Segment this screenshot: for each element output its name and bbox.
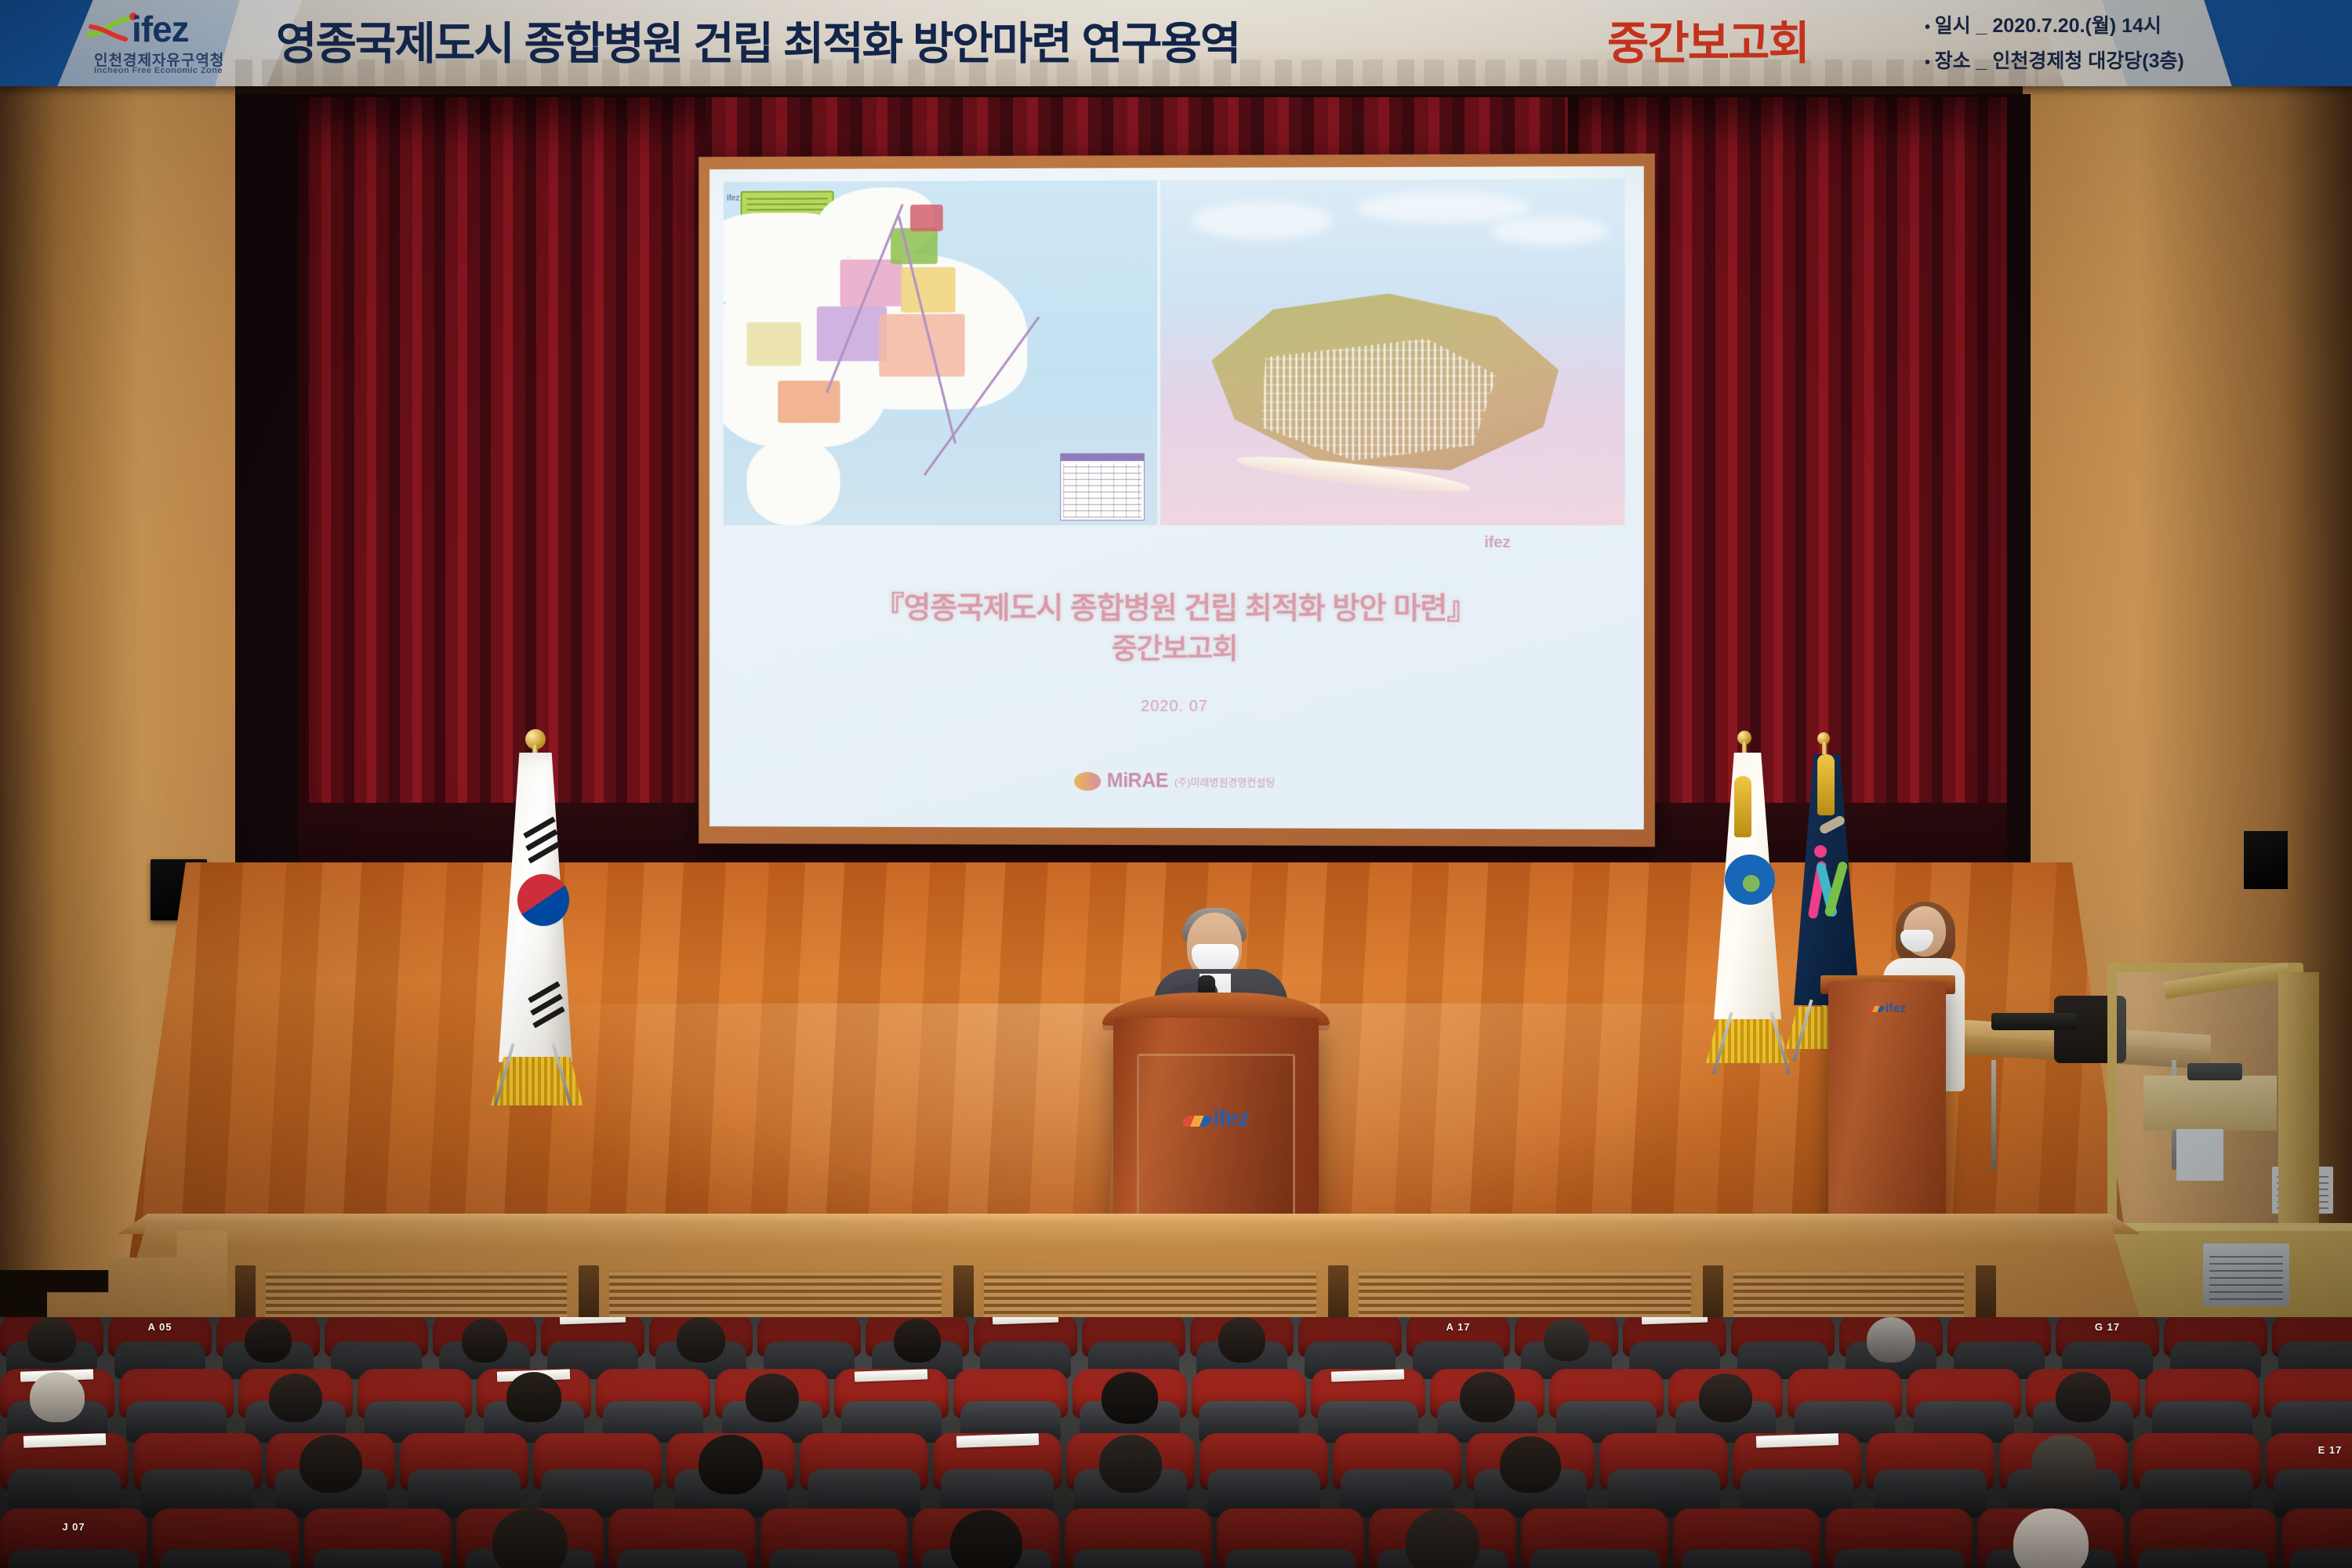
seat[interactable] (2281, 1508, 2352, 1568)
seat[interactable] (304, 1508, 452, 1568)
map-zone (891, 228, 938, 264)
map-zone (747, 322, 801, 366)
slide-title-line2: 중간보고회 (710, 626, 1644, 668)
slide-title-line1: 『영종국제도시 종합병원 건립 최적화 방안 마련』 (710, 583, 1644, 626)
map-zone (901, 267, 956, 313)
banner-meta-venue: 장소 _ 인천경제청 대강당(3층) (1925, 45, 2184, 80)
audience-seating-area: B 05 A 05 A 17 G 17 (0, 1317, 2352, 1568)
mc-lectern: ifez (1828, 982, 1946, 1240)
flag-tassel (1817, 754, 1835, 815)
seat-row: J 07 (0, 1508, 2352, 1568)
slide-corner-logo: ifez (1484, 533, 1626, 560)
seat-label: J 07 (62, 1521, 85, 1533)
slide-date: 2020. 07 (710, 697, 1644, 717)
cloud (1192, 201, 1333, 240)
vendor-subtitle: (주)미래병원경영컨설팅 (1174, 774, 1275, 789)
map-data-table (1060, 453, 1145, 521)
seat[interactable] (1217, 1508, 1364, 1568)
seat[interactable] (760, 1508, 908, 1568)
org-emblem-icon (1814, 845, 1827, 858)
seat-label: A 05 (148, 1321, 172, 1333)
audience-head (462, 1319, 507, 1363)
seat[interactable] (1673, 1508, 1820, 1568)
seat[interactable] (456, 1508, 604, 1568)
seat[interactable] (1825, 1508, 1973, 1568)
seat[interactable] (1521, 1508, 1668, 1568)
wheelchair-lift-enclosure[interactable] (2107, 963, 2303, 1245)
map-zone (817, 307, 887, 361)
seat[interactable] (2129, 1508, 2277, 1568)
banner-meta-datetime: 일시 _ 2020.7.20.(월) 14시 (1925, 9, 2184, 45)
map-zone (778, 381, 840, 423)
table-equipment (1991, 1013, 2078, 1030)
audience-head (2056, 1372, 2111, 1422)
audience-head (506, 1372, 561, 1422)
audience-head (1102, 1372, 1158, 1424)
ifez-mark-icon (1867, 1006, 1885, 1012)
stage-curtain-left (298, 97, 706, 866)
mc-lectern-logo-text: ifez (1886, 1002, 1907, 1015)
slide-image-row: ifez (724, 179, 1625, 525)
seat[interactable]: J 07 (0, 1508, 147, 1568)
mirae-mark-icon (1074, 771, 1101, 790)
slide-aerial-rendering (1160, 179, 1625, 525)
ifez-mark-icon (1181, 1116, 1214, 1127)
banner-title: 영종국제도시 종합병원 건립 최적화 방안마련 연구용역 (276, 5, 1240, 83)
map-ifez-badge: ifez (727, 194, 740, 203)
audience-head (677, 1317, 725, 1363)
flag-tassel (1734, 776, 1751, 837)
seat[interactable] (152, 1508, 299, 1568)
audience-head (245, 1319, 292, 1363)
wall-speaker-icon (2244, 831, 2288, 889)
audience-head (1544, 1319, 1589, 1361)
audience-head (699, 1435, 763, 1494)
lift-warning-sign (2203, 1243, 2289, 1306)
audience-head (1500, 1436, 1561, 1493)
vendor-name: MiRAE (1107, 770, 1168, 793)
mc-lectern-ifez-logo: ifez (1828, 1002, 1946, 1016)
seat-label: E 17 (2318, 1444, 2343, 1456)
lectern-panel (1137, 1054, 1295, 1234)
audience-head (894, 1319, 941, 1363)
table-leg (1991, 1060, 1996, 1170)
audience-head (2031, 1435, 2096, 1493)
cloud (1356, 192, 1530, 224)
audience-head (1460, 1372, 1515, 1422)
map-landmass (747, 439, 840, 525)
slide-landuse-map: ifez (724, 180, 1157, 525)
event-banner: ifez 인천경제자유구역청 Incheon Free Economic Zon… (0, 0, 2352, 86)
seat[interactable] (1369, 1508, 1516, 1568)
lectern-ifez-logo: ifez (1113, 1105, 1319, 1132)
slide-vendor-logo: MiRAE (주)미래병원경영컨설팅 (710, 768, 1644, 793)
seat[interactable] (1977, 1508, 2125, 1568)
map-zone (879, 314, 964, 377)
audience-head (1867, 1317, 1915, 1363)
auditorium-photo: ifez 인천경제자유구역청 Incheon Free Economic Zon… (0, 0, 2352, 1568)
ifez-english-name: Incheon Free Economic Zone (94, 66, 223, 75)
audience-head (27, 1317, 76, 1363)
audience-head (746, 1374, 799, 1422)
flag-stand (486, 1043, 580, 1105)
projection-screen: ifez (699, 154, 1655, 847)
banner-title-accent: 중간보고회 (1607, 5, 1809, 83)
projection-screen-surface: ifez (710, 166, 1644, 829)
seat[interactable] (913, 1508, 1060, 1568)
seat-label: A 17 (1446, 1321, 1471, 1333)
audience-head (30, 1372, 85, 1422)
cloud (1490, 216, 1609, 245)
lectern-logo-text: ifez (1213, 1105, 1249, 1131)
audience-head (1699, 1374, 1752, 1422)
seat[interactable] (1065, 1508, 1212, 1568)
seat-label: G 17 (2095, 1321, 2120, 1333)
audience-head (299, 1435, 362, 1493)
audience-head (1218, 1317, 1265, 1363)
audience-head (1099, 1435, 1162, 1493)
ifez-logo: ifez 인천경제자유구역청 Incheon Free Economic Zon… (86, 6, 267, 78)
ifez-wordmark: ifez (132, 11, 189, 47)
audience-head (269, 1374, 322, 1422)
seat[interactable] (608, 1508, 756, 1568)
banner-meta-block: 일시 _ 2020.7.20.(월) 14시 장소 _ 인천경제청 대강당(3층… (1925, 9, 2184, 80)
map-zone (910, 205, 943, 231)
